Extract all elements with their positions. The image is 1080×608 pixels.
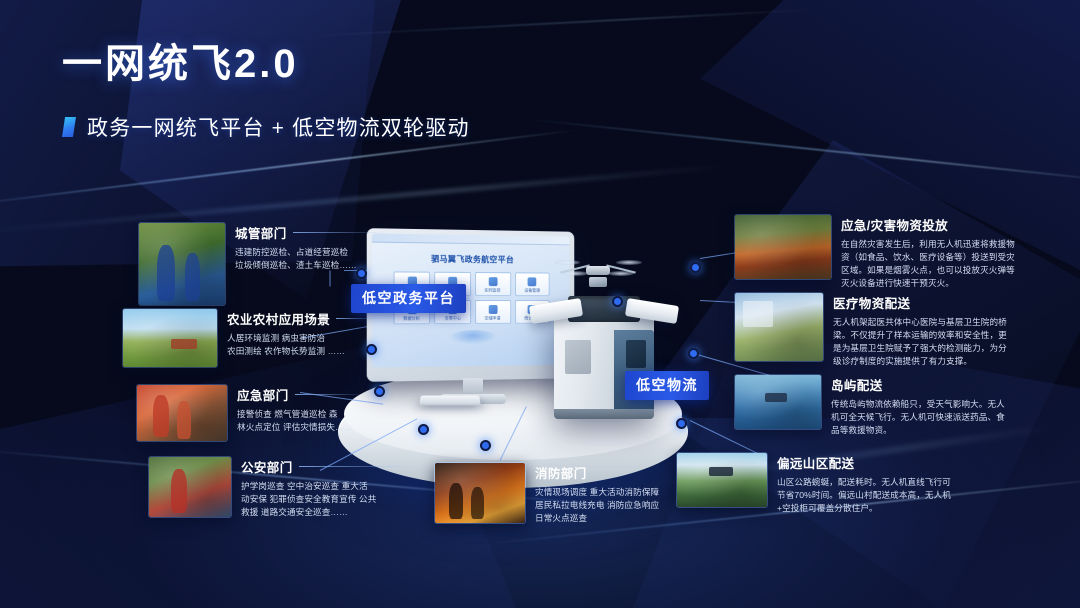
tile-label: 设备管理: [524, 286, 540, 292]
card-agriculture[interactable]: 农业农村应用场景 人居环境监测 病虫害防治 农田测绘 农作物长势监测 ……: [122, 308, 377, 368]
card-title: 消防部门: [535, 463, 587, 482]
page-title: 一网统飞2.0: [62, 42, 470, 86]
tile-label: 实时监控: [485, 286, 501, 292]
card-body: 接警侦查 燃气管道巡检 森 林火点定位 评估灾情损失……: [237, 408, 365, 434]
card-chengguan[interactable]: 城管部门 违建防控巡检、占道经营巡检 垃圾倾倒巡检、渣土车巡检……: [138, 222, 385, 306]
label-low-altitude-logistics[interactable]: 低空物流: [625, 371, 709, 400]
card-head: 城管部门: [235, 223, 385, 242]
hotspot-node[interactable]: [688, 348, 699, 359]
hotspot-node[interactable]: [418, 424, 429, 435]
card-emergency[interactable]: 应急部门 接警侦查 燃气管道巡检 森 林火点定位 评估灾情损失……: [136, 384, 365, 442]
photo-figure: [185, 253, 200, 301]
title-rule: [336, 318, 377, 319]
title-rule: [295, 394, 365, 395]
photo-figure: [153, 395, 169, 437]
screen-tile[interactable]: 空域申请: [475, 300, 511, 324]
drone-rotor: [608, 271, 634, 276]
photo-shading: [735, 215, 831, 279]
tile-icon: [489, 277, 498, 286]
title-rule: [293, 232, 385, 233]
light-streak: [300, 8, 819, 37]
cabinet-base: [554, 409, 654, 419]
photo-machine: [171, 339, 197, 349]
card-text: 应急/灾害物资投放 在自然灾害发生后，利用无人机迅速将救援物资（如食品、饮水、医…: [841, 214, 1016, 290]
sea-drone-photo: [734, 374, 822, 430]
screen-base-glow: [450, 330, 495, 344]
photo-shading: [123, 309, 217, 367]
card-text: 农业农村应用场景 人居环境监测 病虫害防治 农田测绘 农作物长势监测 ……: [227, 308, 377, 368]
card-head: 岛屿配送: [831, 375, 1006, 394]
photo-figure: [171, 469, 187, 513]
card-title: 公安部门: [241, 457, 293, 476]
slide-root: 一网统飞2.0 政务一网统飞平台 + 低空物流双轮驱动 驷马翼飞政务航空平台: [0, 0, 1080, 608]
card-head: 公安部门: [241, 457, 416, 476]
emergency-rescue-photo: [136, 384, 228, 442]
card-text: 公安部门 护学岗巡查 空中治安巡查 重大活 动安保 犯罪侦查安全教育宣传 公共 …: [241, 456, 416, 519]
delivery-drone: [556, 256, 640, 290]
card-text: 岛屿配送 传统岛屿物流依赖船只，受天气影响大。无人机可全天候飞行。无人机可快速派…: [831, 374, 1006, 437]
cabinet-pickup-slot: [626, 340, 646, 368]
card-head: 应急/灾害物资投放: [841, 215, 1016, 234]
label-gov-platform[interactable]: 低空政务平台: [351, 284, 466, 313]
card-title: 城管部门: [235, 223, 287, 242]
drone-rotor: [616, 260, 642, 265]
photo-figure: [177, 401, 191, 439]
card-body: 无人机架起医共体中心医院与基层卫生院的桥梁。不仅提升了样本运输的效率和安全性，更…: [833, 316, 1008, 368]
screen-topbar: [372, 233, 570, 245]
tile-icon: [489, 305, 498, 314]
card-head: 应急部门: [237, 385, 365, 404]
photo-drone: [765, 393, 787, 402]
flag-mark-icon: [62, 117, 76, 137]
card-text: 应急部门 接警侦查 燃气管道巡检 森 林火点定位 评估灾情损失……: [237, 384, 365, 442]
screen-title: 驷马翼飞政务航空平台: [380, 253, 562, 266]
card-title: 农业农村应用场景: [227, 309, 330, 328]
card-police[interactable]: 公安部门 护学岗巡查 空中治安巡查 重大活 动安保 犯罪侦查安全教育宣传 公共 …: [148, 456, 416, 519]
card-body: 护学岗巡查 空中治安巡查 重大活 动安保 犯罪侦查安全教育宣传 公共 救援 道路…: [241, 480, 416, 519]
card-island-delivery[interactable]: 岛屿配送 传统岛屿物流依赖船只，受天气影响大。无人机可全天候飞行。无人机可快速派…: [734, 374, 1006, 437]
title-rule: [299, 466, 416, 467]
hotspot-node[interactable]: [676, 418, 687, 429]
hotspot-node[interactable]: [480, 440, 491, 451]
drone-rotor: [554, 260, 580, 265]
card-title: 偏远山区配送: [777, 453, 854, 472]
card-medical-supply[interactable]: 医疗物资配送 无人机架起医共体中心医院与基层卫生院的桥梁。不仅提升了样本运输的效…: [734, 292, 1008, 368]
hotspot-node[interactable]: [690, 262, 701, 273]
card-head: 消防部门: [535, 463, 685, 482]
card-text: 医疗物资配送 无人机架起医共体中心医院与基层卫生院的桥梁。不仅提升了样本运输的效…: [833, 292, 1008, 368]
card-head: 医疗物资配送: [833, 293, 1008, 312]
card-body: 山区公路蜿蜒，配送耗时。无人机直线飞行可节省70%时间。偏远山村配送成本高，无人…: [777, 476, 952, 515]
city-management-photo: [138, 222, 226, 306]
photo-figure: [449, 483, 463, 519]
hospital-photo: [734, 292, 824, 362]
photo-building: [743, 301, 773, 327]
photo-shading: [677, 453, 767, 507]
tile-label: 空域申请: [485, 314, 501, 320]
tile-label: 告警中心: [445, 314, 461, 320]
subtitle-row: 政务一网统飞平台 + 低空物流双轮驱动: [62, 112, 470, 142]
card-title: 岛屿配送: [831, 375, 883, 394]
wildfire-photo: [734, 214, 832, 280]
card-title: 医疗物资配送: [833, 293, 910, 312]
card-body: 传统岛屿物流依赖船只，受天气影响大。无人机可全天候飞行。无人机可快速派送药品、食…: [831, 398, 1006, 437]
card-body: 违建防控巡检、占道经营巡检 垃圾倾倒巡检、渣土车巡检……: [235, 246, 385, 272]
card-text: 偏远山区配送 山区公路蜿蜒，配送耗时。无人机直线飞行可节省70%时间。偏远山村配…: [777, 452, 952, 515]
photo-drone: [709, 467, 733, 476]
drone-cargo-box: [589, 277, 607, 287]
screen-tile[interactable]: 设备管理: [515, 272, 550, 296]
card-title: 应急/灾害物资投放: [841, 215, 948, 234]
card-text: 消防部门 灾情现场调度 重大活动消防保障 居民私拉电线充电 消防应急响应 日常火…: [535, 462, 685, 525]
photo-shading: [139, 223, 225, 305]
light-streak: [522, 118, 1080, 185]
tile-icon: [528, 277, 537, 286]
farmland-photo: [122, 308, 218, 368]
card-fire[interactable]: 消防部门 灾情现场调度 重大活动消防保障 居民私拉电线充电 消防应急响应 日常火…: [434, 462, 685, 525]
card-title: 应急部门: [237, 385, 289, 404]
drone-body: [586, 266, 610, 275]
hotspot-node[interactable]: [374, 386, 385, 397]
card-head: 偏远山区配送: [777, 453, 952, 472]
screen-tile[interactable]: 实时监控: [475, 272, 511, 296]
page-subtitle: 政务一网统飞平台 + 低空物流双轮驱动: [87, 112, 470, 142]
police-patrol-photo: [148, 456, 232, 518]
photo-shading: [735, 375, 821, 429]
header: 一网统飞2.0 政务一网统飞平台 + 低空物流双轮驱动: [62, 42, 470, 142]
cabinet-door: [565, 340, 591, 374]
hotspot-node[interactable]: [612, 296, 623, 307]
tile-label: 数据分析: [404, 314, 421, 320]
card-body: 人居环境监测 病虫害防治 农田测绘 农作物长势监测 ……: [227, 332, 377, 358]
photo-shading: [149, 457, 231, 517]
card-body: 在自然灾害发生后，利用无人机迅速将救援物资（如食品、饮水、医疗设备等）投送到受灾…: [841, 238, 1016, 290]
mountain-drone-photo: [676, 452, 768, 508]
firefighting-photo: [434, 462, 526, 524]
card-disaster-supply[interactable]: 应急/灾害物资投放 在自然灾害发生后，利用无人机迅速将救援物资（如食品、饮水、医…: [734, 214, 1016, 290]
drone-rotor: [562, 271, 588, 276]
card-body: 灾情现场调度 重大活动消防保障 居民私拉电线充电 消防应急响应 日常火点巡查: [535, 486, 685, 525]
card-mountain-delivery[interactable]: 偏远山区配送 山区公路蜿蜒，配送耗时。无人机直线飞行可节省70%时间。偏远山村配…: [676, 452, 952, 515]
photo-figure: [471, 487, 484, 519]
keyboard: [419, 396, 480, 406]
photo-figure: [157, 245, 175, 301]
